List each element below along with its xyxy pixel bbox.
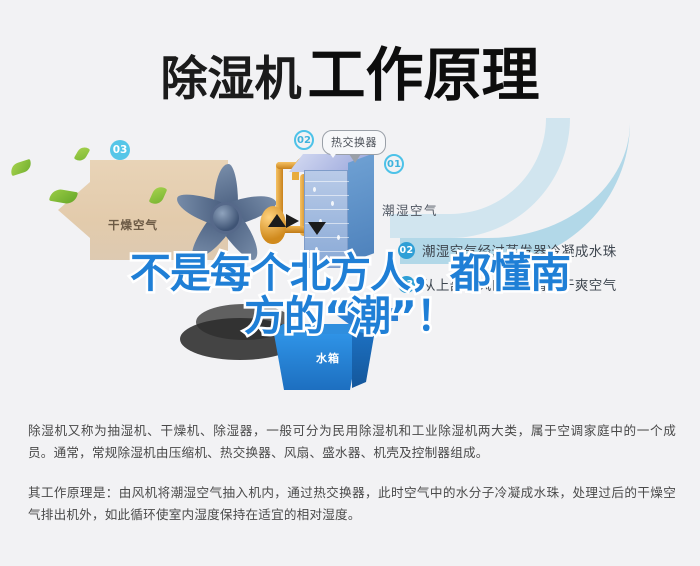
- leaf-icon: [74, 145, 91, 164]
- badge-02: 02: [294, 130, 314, 150]
- page-title: 除湿机工作原理: [0, 28, 700, 112]
- airflow-arrow-down-icon: [308, 222, 326, 235]
- headline-line-2: 方的“潮”！: [0, 295, 700, 338]
- leaf-icon: [9, 159, 33, 176]
- page-root: 除湿机工作原理 干燥空气: [0, 0, 700, 566]
- headline-overlay: 不是每个北方人，都懂南 方的“潮”！: [0, 252, 700, 338]
- badge-03: 03: [110, 140, 130, 160]
- dry-air-label: 干燥空气: [108, 217, 158, 233]
- heat-exchanger-side: [348, 153, 374, 262]
- callout-tail-icon: [328, 151, 338, 158]
- body-paragraph-2: 其工作原理是：由风机将潮湿空气抽入机内，通过热交换器，此时空气中的水分子冷凝成水…: [28, 482, 676, 526]
- title-part-2: 工作原理: [307, 41, 539, 109]
- airflow-arrow-up-icon: [268, 214, 286, 227]
- airflow-arrow-right-icon: [286, 214, 299, 228]
- body-paragraph-1: 除湿机又称为抽湿机、干燥机、除湿器，一般可分为民用除湿机和工业除湿机两大类，属于…: [28, 420, 676, 464]
- humid-air-label: 潮湿空气: [382, 200, 438, 219]
- headline-line-1: 不是每个北方人，都懂南: [0, 252, 700, 295]
- water-tank-label: 水箱: [316, 350, 340, 366]
- title-part-1: 除湿机: [160, 52, 301, 107]
- body-copy: 除湿机又称为抽湿机、干燥机、除湿器，一般可分为民用除湿机和工业除湿机两大类，属于…: [28, 420, 676, 544]
- badge-01: 01: [384, 154, 404, 174]
